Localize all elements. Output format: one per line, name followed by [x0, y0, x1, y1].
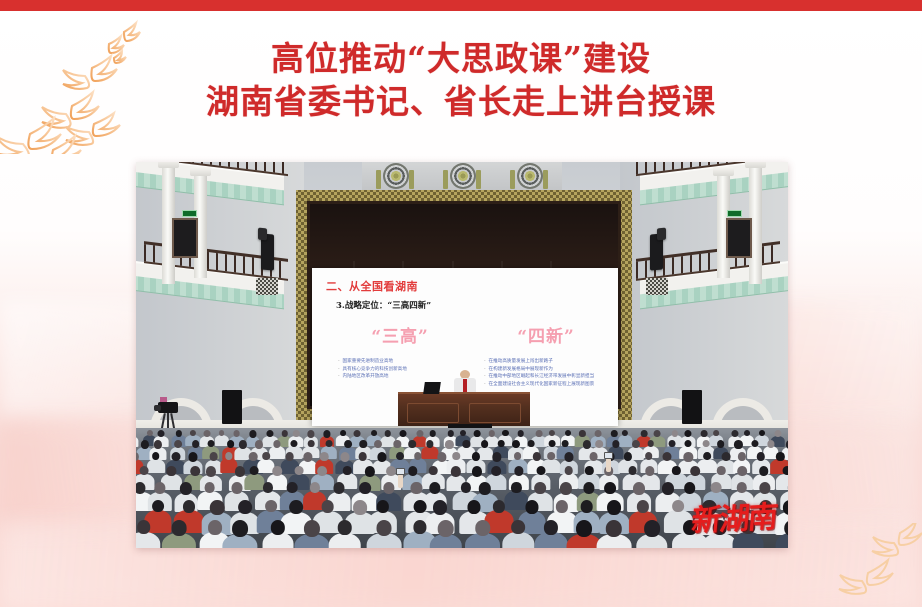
- side-doorway: [172, 218, 198, 258]
- slide-column-right-title: “四新”: [484, 322, 608, 347]
- medallion-ornament: [443, 163, 481, 191]
- laptop-icon: [423, 382, 441, 394]
- audience-member: [367, 520, 402, 548]
- list-item: -国家重要先进制造业高地: [338, 357, 462, 365]
- flying-birds-icon: [838, 523, 922, 603]
- slide-heading: 二、从全国看湖南: [326, 278, 608, 294]
- audience-member: [429, 520, 461, 548]
- watermark-logo: 新湖南: [690, 492, 778, 540]
- page-title: 高位推动“大思政课”建设 湖南省委书记、省长走上讲台授课: [0, 38, 922, 124]
- wall-speaker-top: [657, 228, 666, 241]
- lecturer-figure: [454, 370, 476, 394]
- exit-sign-icon: [727, 210, 742, 217]
- wall-speaker-top: [258, 228, 267, 241]
- audience-member: [597, 520, 632, 548]
- audience-member: [503, 520, 534, 548]
- list-item: -在全面建设社会主义现代化国家新征程上展现新图景: [484, 380, 608, 388]
- slide-bullets-right: -在推动高质量发展上闯出新路子 -在构建新发展格局中展现新作为 -在推动中部地区…: [484, 357, 608, 387]
- audience-member: [535, 520, 568, 548]
- audience-member: [636, 520, 667, 548]
- exit-sign-icon: [182, 210, 197, 217]
- audience-member: [465, 520, 501, 548]
- list-item: -在推动高质量发展上闯出新路子: [484, 357, 608, 365]
- stage-speaker: [222, 390, 242, 424]
- list-item: -在推动中部地区崛起和长江经济带发展中彰显新担当: [484, 372, 608, 380]
- stage-medallion-band: [362, 162, 562, 192]
- audience-member: [222, 520, 257, 548]
- medallion-ornament: [510, 163, 548, 191]
- audience-member: [262, 520, 293, 548]
- audience-member: [294, 520, 329, 548]
- auditorium-photo: 二、从全国看湖南 3.战略定位：“三高四新” “三高” -国家重要先进制造业高地…: [136, 162, 788, 548]
- speaker-podium: [398, 392, 530, 426]
- side-doorway: [726, 218, 752, 258]
- headline-line-1: 高位推动“大思政课”建设: [0, 38, 922, 80]
- audience-member: [136, 520, 160, 548]
- headline-line-2: 湖南省委书记、省长走上讲台授课: [0, 80, 922, 124]
- medallion-ornament: [376, 163, 414, 191]
- audience-member: [776, 520, 788, 548]
- slide-bullets-left: -国家重要先进制造业高地 -具有核心竞争力的科技创新高地 -内陆地区改革开放高地: [338, 357, 462, 380]
- list-item: -具有核心竞争力的科技创新高地: [338, 365, 462, 373]
- poster-page: 高位推动“大思政课”建设 湖南省委书记、省长走上讲台授课: [0, 0, 922, 607]
- audience-member: [162, 520, 196, 548]
- list-item: -内陆地区改革开放高地: [338, 372, 462, 380]
- slide-column-left-title: “三高”: [338, 322, 462, 347]
- stage-speaker: [682, 390, 702, 424]
- top-red-bar: [0, 0, 922, 11]
- raised-phone: [398, 474, 403, 488]
- audience-member: [328, 520, 361, 548]
- raised-phone: [606, 458, 611, 472]
- list-item: -在构建新发展格局中展现新作为: [484, 365, 608, 373]
- wall-vent-grille: [646, 278, 668, 295]
- slide-subheading: 3.战略定位：“三高四新”: [336, 299, 608, 311]
- wall-vent-grille: [256, 278, 278, 295]
